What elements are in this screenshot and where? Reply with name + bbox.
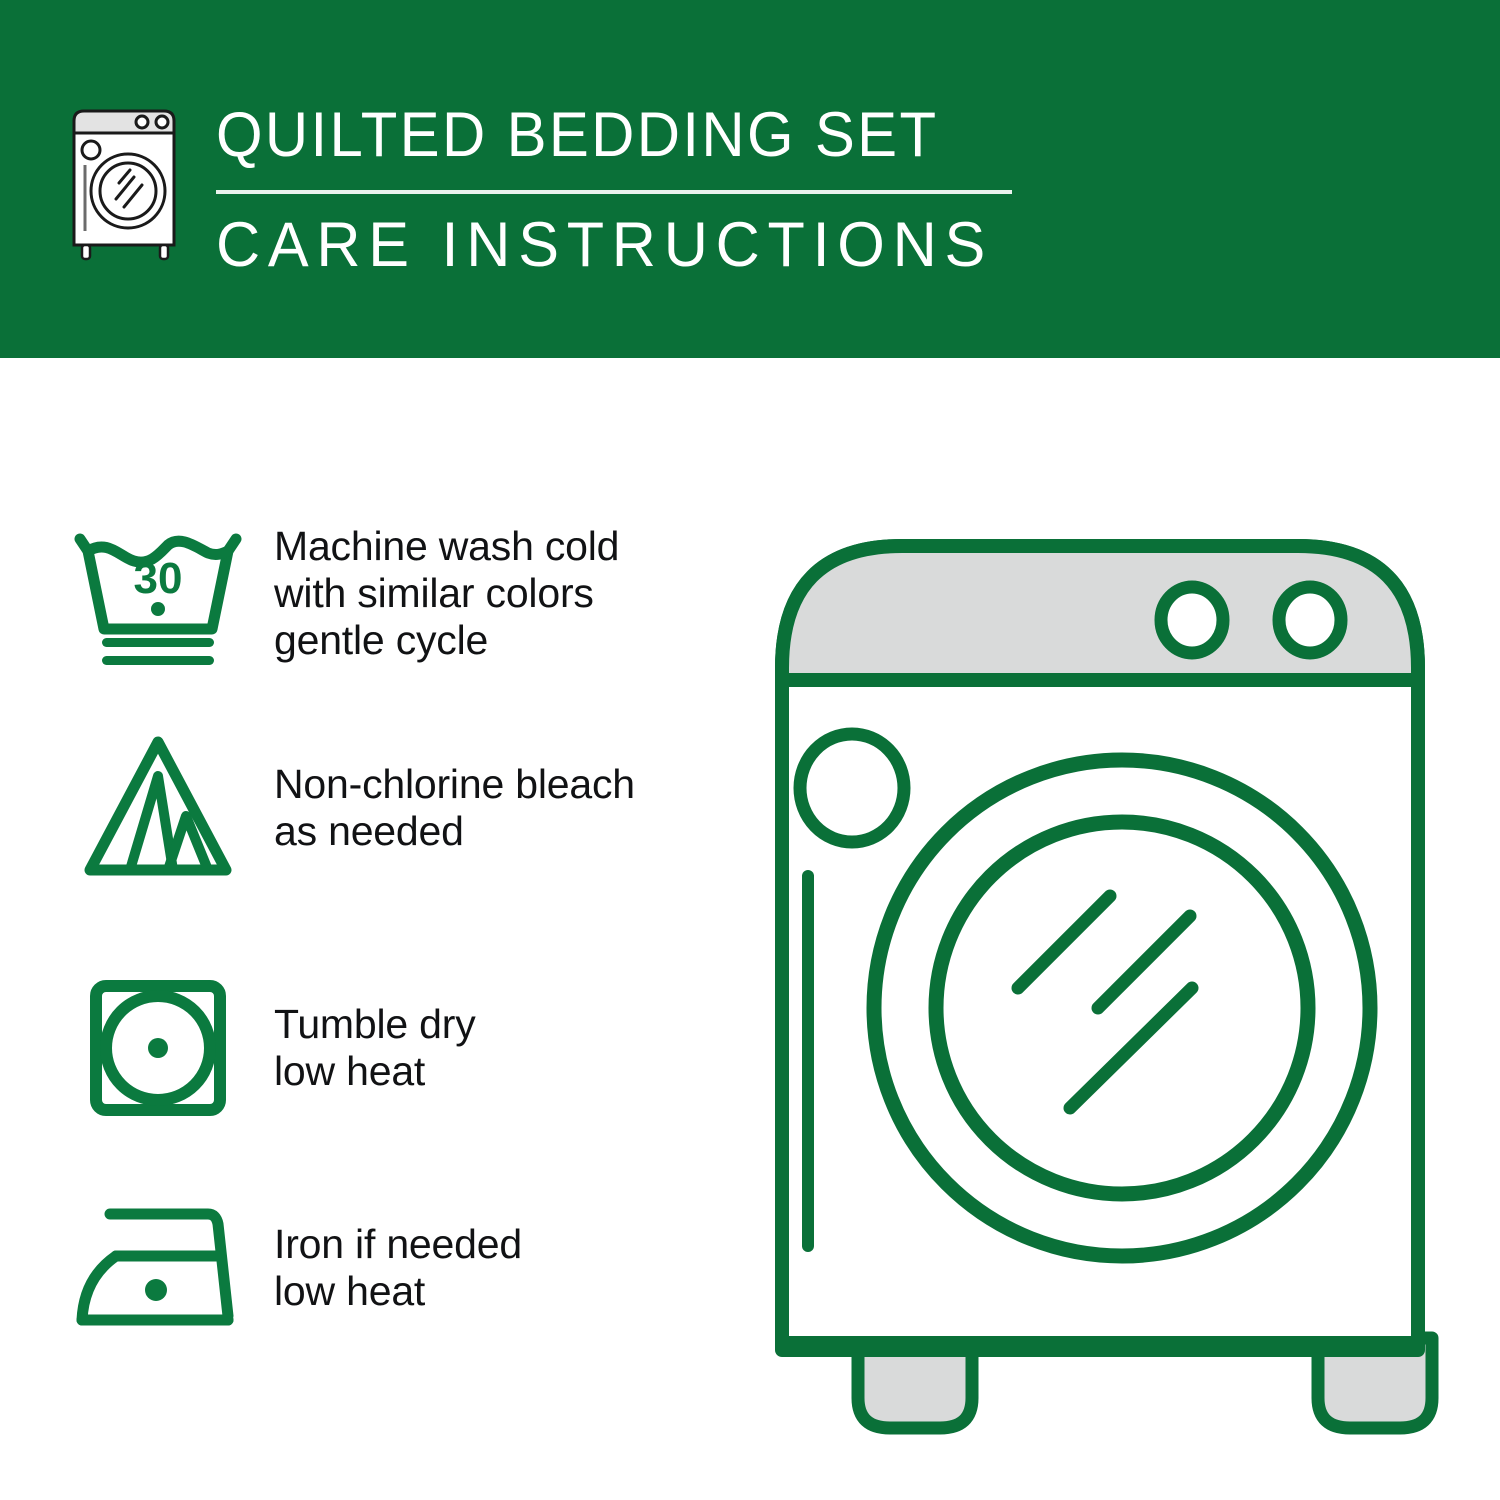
page-title: QUILTED BEDDING SET [216, 100, 995, 170]
list-item: 30 Machine wash cold with similar colors… [0, 508, 730, 678]
instruction-text: Non-chlorine bleach as needed [274, 761, 635, 855]
instruction-line: Non-chlorine bleach [274, 761, 635, 808]
instruction-line: with similar colors [274, 570, 619, 617]
control-knob [1279, 587, 1341, 653]
header-divider [216, 190, 1012, 194]
wash-temp-label: 30 [134, 554, 183, 603]
list-item: Tumble dry low heat [0, 963, 730, 1133]
content-area: 30 Machine wash cold with similar colors… [0, 358, 1500, 1500]
page-subtitle: CARE INSTRUCTIONS [216, 210, 1011, 280]
list-item: Non-chlorine bleach as needed [0, 723, 730, 893]
detergent-port [800, 734, 904, 842]
header-banner: QUILTED BEDDING SET CARE INSTRUCTIONS [0, 0, 1500, 358]
instruction-line: low heat [274, 1268, 522, 1315]
instruction-line: low heat [274, 1048, 476, 1095]
instruction-text: Iron if needed low heat [274, 1221, 522, 1315]
front-load-washing-machine-illustration [740, 488, 1460, 1448]
instruction-line: Machine wash cold [274, 523, 619, 570]
list-item: Iron if needed low heat [0, 1183, 730, 1353]
instruction-line: gentle cycle [274, 617, 619, 664]
care-instructions-infographic: QUILTED BEDDING SET CARE INSTRUCTIONS [0, 0, 1500, 1500]
instruction-text: Machine wash cold with similar colors ge… [274, 523, 619, 664]
header-text-block: QUILTED BEDDING SET CARE INSTRUCTIONS [216, 100, 1036, 280]
wash-tub-30-one-dot-two-bars-icon: 30 [68, 513, 248, 673]
control-knob [1161, 587, 1223, 653]
instruction-text: Tumble dry low heat [274, 1001, 476, 1095]
washing-machine-icon [64, 103, 196, 263]
tumble-dry-one-dot-icon [68, 968, 248, 1128]
instruction-line: Tumble dry [274, 1001, 476, 1048]
instruction-line: Iron if needed [274, 1221, 522, 1268]
bleach-triangle-non-chlorine-icon [68, 728, 248, 888]
care-instruction-list: 30 Machine wash cold with similar colors… [0, 358, 730, 1500]
iron-one-dot-icon [68, 1188, 248, 1348]
instruction-line: as needed [274, 808, 635, 855]
